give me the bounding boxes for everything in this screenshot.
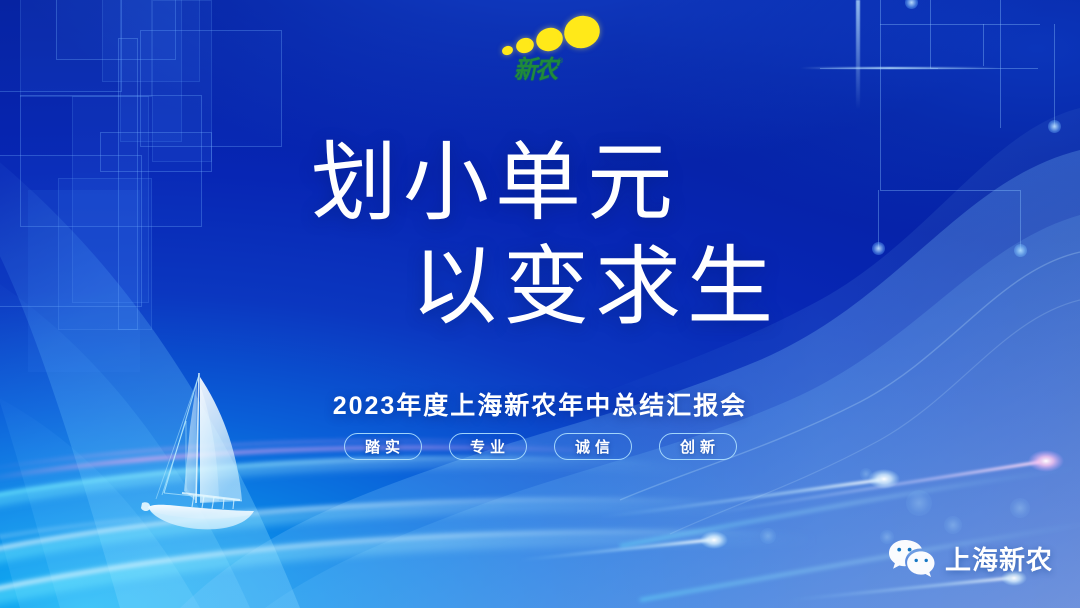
wechat-account: 上海新农 [888, 538, 1053, 578]
subtitle: 2023年度上海新农年中总结汇报会 [0, 386, 1080, 422]
logo-dot-3 [533, 24, 566, 54]
bokeh-6 [860, 468, 872, 480]
tag-tashi: 踏实 [344, 433, 422, 460]
wechat-icon [888, 538, 936, 578]
tag-zhuanye: 专业 [449, 433, 527, 460]
logo-dot-1 [501, 45, 514, 57]
bokeh-1 [906, 490, 932, 516]
bokeh-4 [1010, 498, 1030, 518]
tag-chengxin: 诚信 [554, 433, 632, 460]
poster-canvas: 新农 ® 划小单元 以变求生 2023年度上海新农年中总结汇报会 踏实 专业 诚… [0, 0, 1080, 608]
logo-registered-mark: ® [558, 58, 563, 65]
bokeh-2 [944, 516, 962, 534]
tag-chuangxin: 创新 [659, 433, 737, 460]
wechat-label: 上海新农 [945, 540, 1053, 577]
logo-wordmark: 新农 [514, 58, 556, 83]
logo-dot-4 [560, 11, 604, 53]
value-tags: 踏实 专业 诚信 创新 [0, 433, 1080, 460]
title-block: 划小单元 以变求生 [0, 140, 1080, 330]
title-line-1: 划小单元 [0, 140, 1080, 226]
logo-dot-2 [514, 36, 536, 56]
brand-logo: 新农 ® [498, 14, 608, 94]
title-line-2: 以变求生 [110, 244, 1080, 330]
bokeh-5 [760, 528, 776, 544]
